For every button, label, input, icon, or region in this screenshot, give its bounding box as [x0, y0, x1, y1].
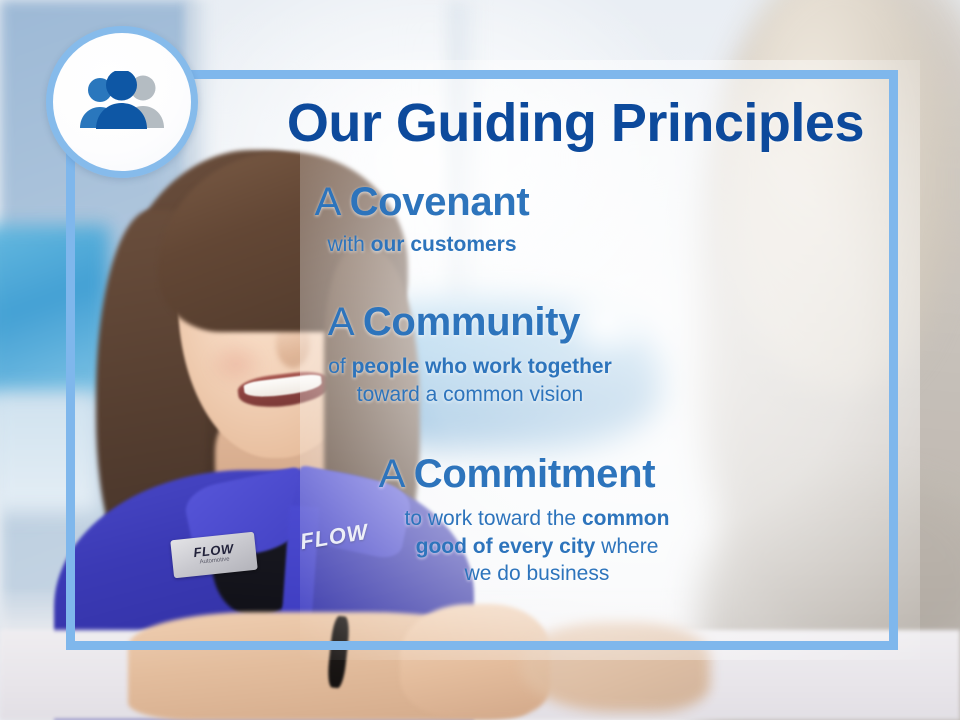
- principle-heading: A Commitment: [66, 452, 898, 497]
- content-block: Our Guiding Principles A Covenant with o…: [66, 70, 898, 650]
- principle-heading: A Community: [66, 300, 898, 345]
- page-title: Our Guiding Principles: [66, 92, 864, 154]
- principle-article: A: [379, 452, 403, 496]
- principle-community: A Community of people who work togethert…: [66, 300, 898, 408]
- principle-keyword: Covenant: [350, 180, 530, 224]
- principle-covenant: A Covenant with our customers: [66, 180, 898, 259]
- principle-keyword: Commitment: [414, 452, 655, 496]
- principle-article: A: [328, 300, 352, 344]
- principle-heading: A Covenant: [66, 180, 898, 225]
- principle-description: to work toward the commongood of every c…: [66, 505, 898, 588]
- principle-article: A: [315, 180, 339, 224]
- guiding-principles-graphic: FLOW Automotive FLOW Our Guiding Princip…: [0, 0, 960, 720]
- principle-description: of people who work togethertoward a comm…: [66, 353, 898, 408]
- principle-description: with our customers: [66, 231, 898, 259]
- principle-keyword: Community: [363, 300, 580, 344]
- principle-commitment: A Commitment to work toward the commongo…: [66, 452, 898, 588]
